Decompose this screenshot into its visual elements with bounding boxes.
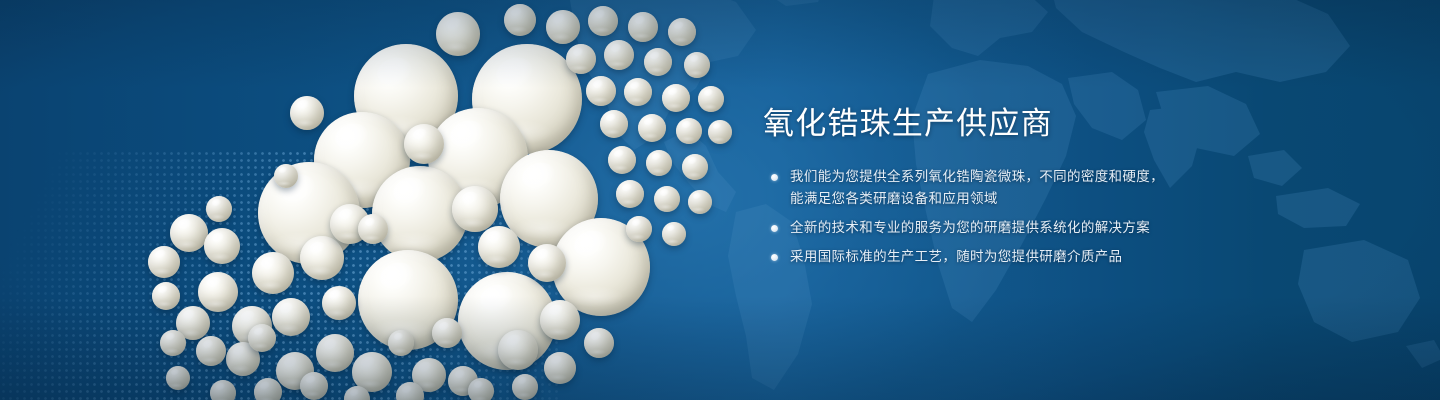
bullet-line: 能满足您各类研磨设备和应用领域 [790, 188, 1363, 210]
bullet-line: 采用国际标准的生产工艺，随时为您提供研磨介质产品 [790, 246, 1363, 268]
banner-headline: 氧化锆珠生产供应商 [763, 104, 1363, 144]
bullet-line: 全新的技术和专业的服务为您的研磨提供系统化的解决方案 [790, 217, 1363, 239]
banner-bullet-list: 我们能为您提供全系列氧化锆陶瓷微珠，不同的密度和硬度， 能满足您各类研磨设备和应… [763, 166, 1363, 268]
banner-copy: 氧化锆珠生产供应商 我们能为您提供全系列氧化锆陶瓷微珠，不同的密度和硬度， 能满… [763, 104, 1363, 268]
banner-bullet-item: 全新的技术和专业的服务为您的研磨提供系统化的解决方案 [763, 217, 1363, 239]
bullet-dot-icon [771, 254, 778, 261]
banner-bullet-item: 采用国际标准的生产工艺，随时为您提供研磨介质产品 [763, 246, 1363, 268]
bullet-line: 我们能为您提供全系列氧化锆陶瓷微珠，不同的密度和硬度， [790, 166, 1363, 188]
bullet-dot-icon [771, 225, 778, 232]
banner-bullet-item: 我们能为您提供全系列氧化锆陶瓷微珠，不同的密度和硬度， 能满足您各类研磨设备和应… [763, 166, 1363, 210]
hero-banner: 氧化锆珠生产供应商 我们能为您提供全系列氧化锆陶瓷微珠，不同的密度和硬度， 能满… [0, 0, 1440, 400]
bullet-dot-icon [771, 174, 778, 181]
